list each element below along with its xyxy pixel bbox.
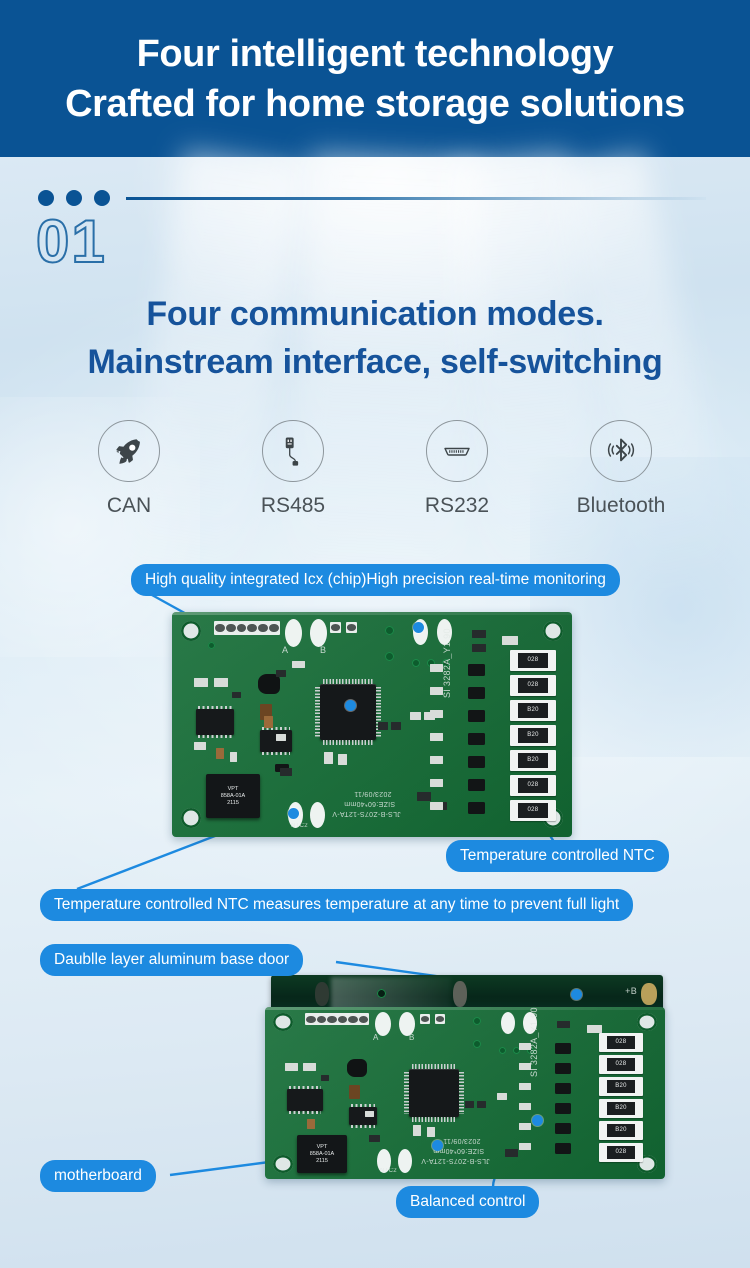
mosfet [468, 756, 485, 768]
callout-ntc-long[interactable]: Temperature controlled NTC measures temp… [40, 889, 633, 921]
mode-label: CAN [107, 494, 151, 518]
via [377, 989, 386, 998]
usb-cable-icon [276, 434, 310, 468]
smd-component [292, 661, 305, 668]
section-headline: Four communication modes. Mainstream int… [0, 290, 750, 386]
mosfet [555, 1143, 571, 1154]
mode-label: Bluetooth [577, 494, 666, 518]
smd-component [230, 752, 237, 762]
resistor-label: 028 [518, 678, 547, 693]
smd-component [391, 722, 401, 730]
via [208, 642, 215, 649]
mounting-hole [273, 1013, 293, 1031]
smd-component [430, 756, 443, 764]
callout-anchor-dot [571, 989, 582, 1000]
power-resistor: 028 [510, 675, 556, 696]
smd-component [472, 644, 486, 652]
smd-component [194, 742, 206, 750]
mode-can: CAN [83, 420, 175, 518]
smd-component [417, 792, 431, 801]
mosfet [468, 733, 485, 745]
silkscreen-part-number: JLS-B-Z07S-12TA-V [421, 1157, 490, 1164]
microcontroller-chip [320, 684, 376, 740]
smd-component [430, 802, 443, 810]
mosfet [555, 1123, 571, 1134]
pin-header-connector [420, 1014, 430, 1024]
mode-icon-circle [590, 420, 652, 482]
solder-pad [310, 802, 325, 828]
mosfet [555, 1063, 571, 1074]
chip-pins-right [459, 1072, 464, 1114]
mode-rs485: RS485 [247, 420, 339, 518]
mounting-hole [181, 808, 201, 828]
smd-component [410, 712, 421, 720]
via [412, 659, 420, 667]
transformer-line2: 858A-01A [221, 793, 245, 800]
via [385, 652, 394, 661]
mode-label: RS485 [261, 494, 325, 518]
smd-component [216, 748, 224, 759]
silkscreen-model: SI 3282A_Y1 90 [442, 628, 452, 698]
smd-component [338, 754, 347, 765]
mode-bluetooth: Bluetooth [575, 420, 667, 518]
smd-component [502, 636, 518, 645]
smd-component [557, 1021, 570, 1028]
power-resistor: B20 [599, 1121, 643, 1140]
resistor-label: B20 [518, 728, 547, 743]
silkscreen-bplus: +B [625, 986, 637, 996]
mounting-hole [543, 621, 563, 641]
resistor-label: 028 [607, 1058, 635, 1072]
callout-anchor-dot [532, 1115, 543, 1126]
transformer-line2: 858A-01A [310, 1151, 334, 1158]
silkscreen-ntc: NTC2 [380, 1168, 397, 1174]
headline-line2: Mainstream interface, self-switching [0, 338, 750, 386]
smd-component [519, 1143, 531, 1150]
silkscreen-size: SIZE:60*40mm [344, 800, 395, 807]
decor-dot [94, 190, 110, 206]
resistor-label: 028 [518, 778, 547, 793]
smd-component [365, 1111, 374, 1117]
smd-component [324, 752, 333, 764]
power-resistor: B20 [510, 750, 556, 771]
board-edge-highlight [172, 612, 572, 615]
callout-anchor-dot [432, 1140, 443, 1151]
mosfet [468, 687, 485, 699]
resistor-label: 028 [607, 1036, 635, 1050]
smd-component [430, 733, 443, 741]
mode-rs232: RS232 [411, 420, 503, 518]
section-divider-line [126, 197, 706, 200]
callout-balanced-control[interactable]: Balanced control [396, 1186, 539, 1218]
solder-pad [398, 1149, 412, 1173]
pcb-board-bottom: A B VPT 858A-01A 2115 [265, 1007, 665, 1179]
silkscreen-b: B [409, 1033, 415, 1042]
callout-anchor-dot [288, 808, 299, 819]
silkscreen-date: 2023/09/11 [354, 790, 392, 797]
solder-pad [501, 1012, 515, 1034]
resistor-label: B20 [607, 1124, 635, 1138]
mounting-hole [453, 981, 467, 1007]
resistor-label: 028 [607, 1146, 635, 1160]
smd-component [413, 1125, 421, 1136]
headline-line1: Four communication modes. [0, 290, 750, 338]
smd-component [303, 1063, 316, 1071]
power-resistor: B20 [510, 700, 556, 721]
transformer-module: VPT 858A-01A 2115 [297, 1135, 347, 1173]
via [473, 1040, 481, 1048]
solder-pad [285, 619, 302, 647]
smd-component [232, 692, 241, 698]
infographic-page: Four intelligent technology Crafted for … [0, 0, 750, 1268]
solder-pad [310, 619, 327, 647]
pin-header-connector [305, 1013, 369, 1025]
microcontroller-chip [409, 1069, 459, 1117]
smd-component [321, 1075, 329, 1081]
pin-header-connector [346, 622, 357, 633]
smd-component [307, 1119, 315, 1129]
header-banner: Four intelligent technology Crafted for … [0, 0, 750, 157]
power-resistor: B20 [599, 1099, 643, 1118]
mode-label: RS232 [425, 494, 489, 518]
smd-component [427, 1127, 435, 1137]
resistor-label: B20 [518, 753, 547, 768]
mode-icon-circle [98, 420, 160, 482]
power-resistor: 028 [510, 775, 556, 796]
via [385, 626, 394, 635]
silkscreen-a: A [373, 1033, 379, 1042]
ic-chip [196, 709, 234, 735]
smd-component [369, 1135, 380, 1142]
mode-icon-circle [426, 420, 488, 482]
pcb-board-top: A B VPT 858A-01A 2115 [172, 612, 572, 837]
decor-dot [66, 190, 82, 206]
smd-component [194, 678, 208, 687]
transformer-line1: VPT [317, 1144, 328, 1151]
silkscreen-b: B [320, 645, 326, 655]
bluetooth-icon [603, 433, 639, 469]
power-resistor: 028 [510, 650, 556, 671]
mounting-hole [181, 621, 201, 641]
mounting-hole [315, 982, 329, 1006]
board-edge-highlight [265, 1007, 665, 1010]
mosfet [555, 1083, 571, 1094]
communication-modes: CAN RS485 [0, 420, 750, 518]
capacitor [347, 1059, 367, 1077]
power-resistor: 028 [599, 1033, 643, 1052]
resistor-label: 028 [518, 803, 547, 818]
silkscreen-date: 2023/09/11 [443, 1137, 481, 1144]
via [473, 1017, 481, 1025]
ic-chip [287, 1089, 323, 1111]
pin-header-connector [214, 621, 280, 635]
banner-title-line1: Four intelligent technology [137, 29, 614, 79]
section-dots [38, 190, 706, 206]
smd-component [477, 1101, 486, 1108]
smd-component [285, 1063, 298, 1071]
smd-component [497, 1093, 507, 1100]
resistor-label: B20 [607, 1080, 635, 1094]
banner-title-line2: Crafted for home storage solutions [65, 79, 685, 129]
smd-component [280, 768, 292, 776]
smd-component [214, 678, 228, 687]
resistor-label: B20 [607, 1102, 635, 1116]
smd-component [472, 630, 486, 638]
silkscreen-part-number: JLS-B-Z07S-12TA-V [332, 810, 401, 817]
mounting-hole [641, 983, 657, 1005]
chip-pins-left [315, 687, 320, 737]
callout-chip[interactable]: High quality integrated Icx (chip)High p… [131, 564, 620, 596]
transformer-module: VPT 858A-01A 2115 [206, 774, 260, 818]
transformer-line3: 2115 [316, 1158, 328, 1165]
callout-anchor-dot [345, 700, 356, 711]
power-resistor: 028 [599, 1055, 643, 1074]
mosfet [468, 710, 485, 722]
resistor-label: 028 [518, 653, 547, 668]
smd-component [465, 1101, 474, 1108]
smd-component [264, 716, 273, 728]
callout-aluminum-base[interactable]: Daublle layer aluminum base door [40, 944, 303, 976]
silkscreen-model: SI 3282A_Y1 90 [529, 1007, 539, 1077]
section-number: 01 [36, 212, 107, 272]
mosfet [468, 664, 485, 676]
power-resistor: 028 [510, 800, 556, 821]
via [499, 1047, 506, 1054]
smd-component [519, 1123, 531, 1130]
mode-icon-circle [262, 420, 324, 482]
callout-ntc-short[interactable]: Temperature controlled NTC [446, 840, 669, 872]
smd-component [430, 710, 443, 718]
mosfet [555, 1103, 571, 1114]
smd-component [430, 779, 443, 787]
decor-dot [38, 190, 54, 206]
silkscreen-ntc: NTC2 [291, 823, 308, 829]
pin-header-connector [435, 1014, 445, 1024]
transformer-line1: VPT [228, 786, 239, 793]
serial-port-icon [439, 433, 475, 469]
transformer-line3: 2115 [227, 800, 239, 807]
smd-component [276, 670, 286, 677]
rocket-icon [112, 434, 146, 468]
chip-pins-left [404, 1072, 409, 1114]
pin-header-connector [330, 622, 341, 633]
smd-component [519, 1083, 531, 1090]
capacitor [349, 1085, 360, 1099]
mosfet [468, 802, 485, 814]
silkscreen-a: A [282, 645, 288, 655]
pcb-board-bottom-group: +B A B [265, 975, 665, 1180]
mounting-hole [273, 1155, 293, 1173]
smd-component [378, 722, 388, 730]
callout-anchor-dot [413, 622, 424, 633]
mosfet [555, 1043, 571, 1054]
power-resistor: B20 [510, 725, 556, 746]
mounting-hole [637, 1013, 657, 1031]
smd-component [519, 1103, 531, 1110]
capacitor [258, 674, 280, 694]
power-resistor: B20 [599, 1077, 643, 1096]
resistor-label: B20 [518, 703, 547, 718]
mosfet [468, 779, 485, 791]
power-resistor: 028 [599, 1143, 643, 1162]
smd-component [505, 1149, 518, 1157]
smd-component [276, 734, 286, 741]
smd-component [587, 1025, 602, 1033]
callout-motherboard[interactable]: motherboard [40, 1160, 156, 1192]
